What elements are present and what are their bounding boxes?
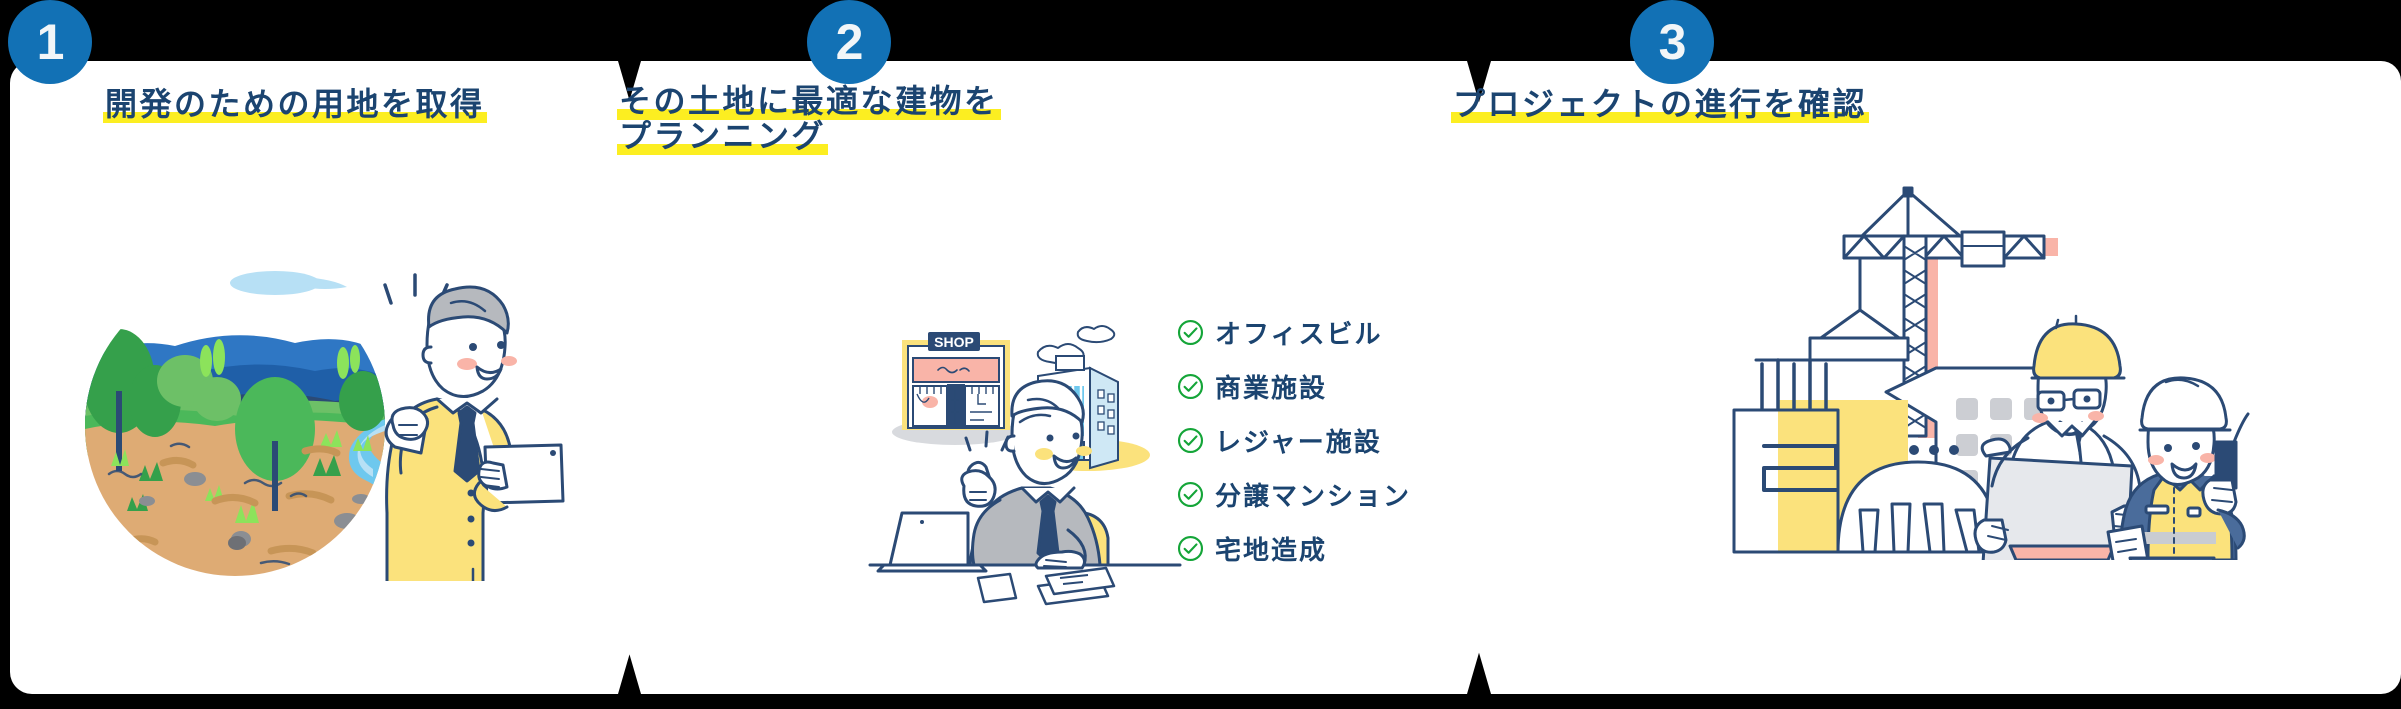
step-title-2: その土地に最適な建物を プランニング <box>617 85 1001 155</box>
phone <box>978 574 1016 602</box>
check-circle-icon <box>1177 319 1204 346</box>
check-label: 商業施設 <box>1215 368 1327 405</box>
check-circle-icon <box>1177 481 1204 508</box>
planning-illustration: SHOP <box>860 290 1190 620</box>
engineer-with-blueprint <box>1975 316 2143 560</box>
shop-sign-text: SHOP <box>934 334 974 350</box>
check-circle-icon <box>1177 535 1204 562</box>
check-label: 分譲マンション <box>1215 476 1411 513</box>
step-badge-1: 1 <box>8 0 92 84</box>
businessman-with-clipboard <box>385 275 563 581</box>
list-item: オフィスビル <box>1177 305 1411 359</box>
step-number-2: 2 <box>836 17 863 67</box>
step-badge-3: 3 <box>1630 0 1714 84</box>
step-badge-2: 2 <box>807 0 891 84</box>
step-title-1: 開発のための用地を取得 <box>103 88 487 123</box>
circular-landscape <box>85 251 387 581</box>
step-title-3: プロジェクトの進行を確認 <box>1451 88 1869 123</box>
step-title-2-line-2: プランニング <box>617 120 828 155</box>
list-item: 宅地造成 <box>1177 521 1411 575</box>
check-label: 宅地造成 <box>1215 530 1327 567</box>
step-number-3: 3 <box>1659 17 1686 67</box>
steps-diagram: 1 開発のための用地を取得 SHOP <box>0 0 2401 709</box>
land-acquisition-illustration <box>85 251 565 581</box>
step-number-1: 1 <box>37 17 64 67</box>
check-label: レジャー施設 <box>1215 422 1382 459</box>
list-item: 商業施設 <box>1177 359 1411 413</box>
check-circle-icon <box>1177 373 1204 400</box>
construction-progress-illustration <box>1718 160 2318 560</box>
check-label: オフィスビル <box>1215 314 1382 351</box>
step-title-1-line-1: 開発のための用地を取得 <box>103 88 487 123</box>
check-circle-icon <box>1177 427 1204 454</box>
building-type-checklist: オフィスビル 商業施設 レジャー施設 分譲マンション <box>1177 305 1411 575</box>
shop-storefront: SHOP <box>892 332 1018 445</box>
step-title-3-line-1: プロジェクトの進行を確認 <box>1451 88 1869 123</box>
list-item: 分譲マンション <box>1177 467 1411 521</box>
list-item: レジャー施設 <box>1177 413 1411 467</box>
step-title-2-line-1: その土地に最適な建物を <box>617 85 1001 120</box>
